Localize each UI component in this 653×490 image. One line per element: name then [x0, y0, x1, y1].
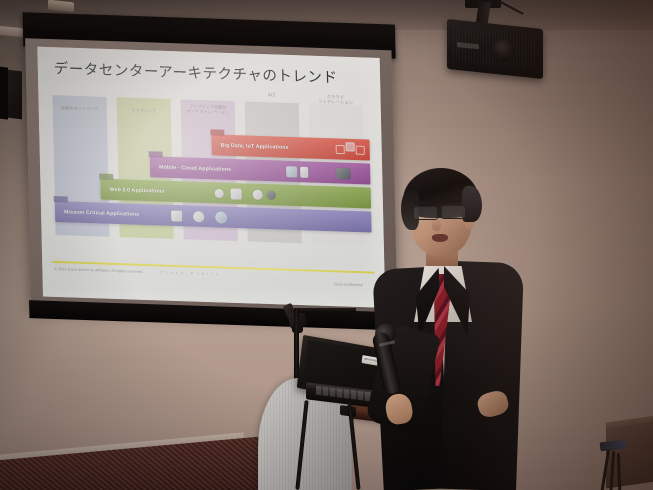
media-app-icon — [300, 166, 308, 177]
slide-columns: 仮想化ネットワーク ファブリック ファブリック自動化 オーケストレーション AC… — [52, 85, 372, 255]
slide-footer-tabs: Cisco Public — [160, 270, 221, 276]
slide-column-2-label: ファブリック — [118, 107, 170, 114]
slide-column-1-header — [49, 86, 109, 88]
ceiling-speaker-icon — [447, 14, 543, 76]
screen-frame: データセンターアーキテクチャのトレンド 仮想化ネットワーク ファブリック ファブ… — [25, 38, 397, 318]
monitor-app-icon — [286, 166, 297, 177]
presenter — [370, 156, 540, 490]
projected-slide: データセンターアーキテクチャのトレンド 仮想化ネットワーク ファブリック ファブ… — [37, 47, 385, 308]
node-glyph-icon — [356, 145, 365, 154]
eyeglasses-lens-right — [441, 205, 466, 219]
slide-column-5-header: クラウド フェデレーション — [305, 94, 365, 107]
photo-app-icon — [231, 188, 242, 199]
slide-column-4-header: ACI — [241, 92, 301, 99]
band-tail — [210, 129, 224, 135]
slide-column-4-label — [246, 111, 298, 113]
erp-app-icon — [193, 211, 204, 222]
device-app-icon — [336, 167, 350, 178]
server-glyph-icon — [346, 142, 355, 151]
slide-column-3-label: ファブリック自動化 オーケストレーション — [182, 103, 234, 115]
middleware-app-icon — [215, 211, 227, 223]
cloud-glyph-icon — [336, 144, 345, 153]
slide-band-mission-critical-label: Mission Critical Applications — [64, 209, 139, 217]
slide-column-5-label — [310, 114, 362, 116]
slide-column-1-label: 仮想化ネットワーク — [54, 105, 106, 112]
slide-band-web20-label: Web 2.0 Applications — [109, 186, 164, 194]
video-app-icon — [267, 190, 276, 199]
projection-screen: データセンターアーキテクチャのトレンド 仮想化ネットワーク ファブリック ファブ… — [23, 4, 402, 324]
slide-column-3-header — [177, 90, 237, 92]
slide-band-mobile-cloud-label: Mobile - Cloud Applications — [159, 164, 231, 172]
social-app-icon — [215, 188, 224, 197]
eyeglasses-bridge — [436, 210, 442, 212]
slide-column-2-header — [113, 88, 173, 90]
slide-copyright: © 2014 Cisco and/or its affiliates. All … — [54, 267, 143, 274]
av-equipment-box — [600, 425, 653, 490]
search-app-icon — [253, 189, 263, 199]
screenshot-root: データセンターアーキテクチャのトレンド 仮想化ネットワーク ファブリック ファブ… — [0, 0, 653, 490]
speaker-body — [447, 19, 543, 79]
slide-band-big-data-label: Big Data, IoT Applications — [221, 142, 289, 150]
slide-confidential-label: Cisco Confidential — [334, 282, 363, 288]
band-tail — [54, 196, 68, 202]
band-tail — [149, 151, 163, 157]
slide-title: データセンターアーキテクチャのトレンド — [54, 57, 338, 87]
wall-speaker-icon — [0, 69, 22, 120]
database-app-icon — [171, 210, 182, 221]
presenter-mouth — [432, 234, 448, 242]
band-tail — [99, 174, 113, 180]
podium-riser-cross — [294, 308, 356, 313]
presenter-nose — [432, 218, 441, 231]
